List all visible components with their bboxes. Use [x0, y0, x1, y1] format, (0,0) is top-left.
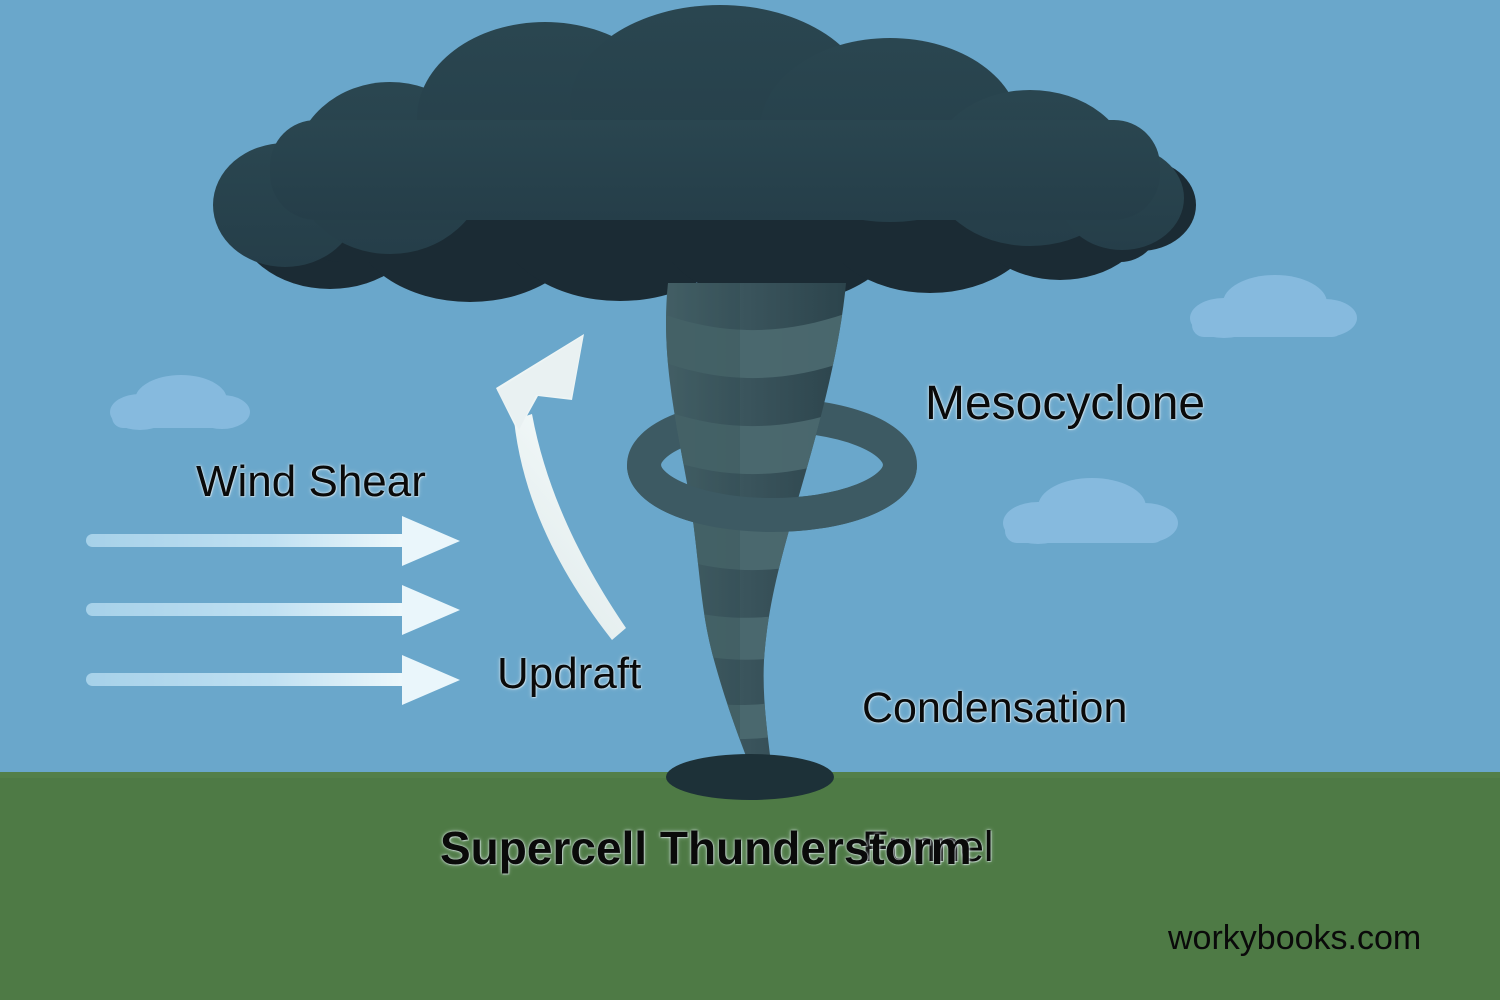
watermark-workybooks: workybooks.com [1168, 920, 1421, 957]
label-wind-shear: Wind Shear [196, 458, 426, 506]
label-supercell-thunderstorm: Supercell Thunderstorm [440, 824, 972, 874]
label-updraft: Updraft [497, 650, 641, 698]
label-condensation-funnel-line1: Condensation [862, 685, 1127, 731]
label-mesocyclone: Mesocyclone [925, 378, 1205, 430]
ground-background [0, 772, 1500, 1000]
diagram-canvas: Mesocyclone Wind Shear Updraft Condensat… [0, 0, 1500, 1000]
ground-debris-cloud [666, 754, 834, 800]
label-condensation-funnel: Condensation Funnel [862, 592, 1127, 964]
